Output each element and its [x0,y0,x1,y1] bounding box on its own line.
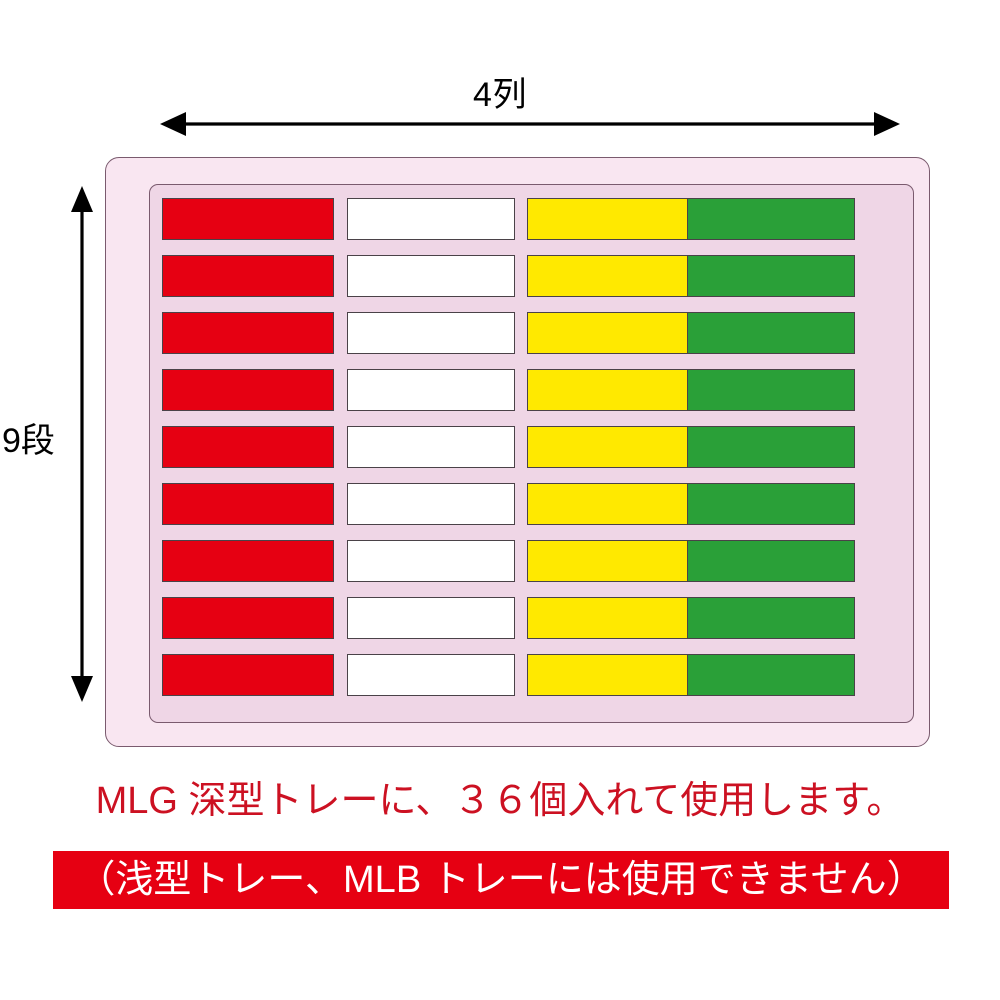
tray-cell-red-row6 [162,483,334,525]
tray-cell-yellow-row3 [527,312,695,354]
tray-cell-green-row1 [687,198,855,240]
width-dimension-arrow [160,112,900,136]
tray-cell-green-row3 [687,312,855,354]
tray-cell-yellow-row5 [527,426,695,468]
tray-cell-green-row8 [687,597,855,639]
tray-cell-white-row3 [347,312,515,354]
height-dimension-label: 9段 [2,424,55,458]
tray-cell-white-row5 [347,426,515,468]
tray-cell-green-row9 [687,654,855,696]
tray-cell-green-row6 [687,483,855,525]
tray-cell-red-row3 [162,312,334,354]
tray-cell-white-row8 [347,597,515,639]
caption-warning-text: （浅型トレー、MLB トレーには使用できません） [77,861,924,899]
tray-outer-frame [105,157,930,747]
tray-cell-white-row9 [347,654,515,696]
diagram-canvas: 4列 9段 [0,0,1000,1000]
caption-primary: MLG 深型トレーに、３６個入れて使用します。 [0,780,1000,824]
tray-cell-white-row4 [347,369,515,411]
width-dimension-label: 4列 [0,78,1000,112]
tray-cell-yellow-row6 [527,483,695,525]
tray-cell-red-row2 [162,255,334,297]
tray-cell-white-row7 [347,540,515,582]
tray-cell-yellow-row8 [527,597,695,639]
tray-cell-green-row2 [687,255,855,297]
tray-inner-well [149,184,914,723]
tray-cell-red-row7 [162,540,334,582]
tray-cell-yellow-row9 [527,654,695,696]
tray-cell-red-row8 [162,597,334,639]
tray-cell-yellow-row1 [527,198,695,240]
tray-cell-green-row4 [687,369,855,411]
tray-cell-white-row2 [347,255,515,297]
tray-cell-grid [162,198,903,711]
tray-cell-green-row7 [687,540,855,582]
tray-cell-yellow-row7 [527,540,695,582]
tray-cell-red-row4 [162,369,334,411]
tray-cell-white-row1 [347,198,515,240]
tray-cell-yellow-row4 [527,369,695,411]
tray-cell-green-row5 [687,426,855,468]
height-dimension-arrow [71,186,93,702]
caption-warning-banner: （浅型トレー、MLB トレーには使用できません） [53,851,949,909]
tray-cell-white-row6 [347,483,515,525]
tray-cell-red-row9 [162,654,334,696]
tray-cell-red-row1 [162,198,334,240]
tray-cell-yellow-row2 [527,255,695,297]
tray-cell-red-row5 [162,426,334,468]
